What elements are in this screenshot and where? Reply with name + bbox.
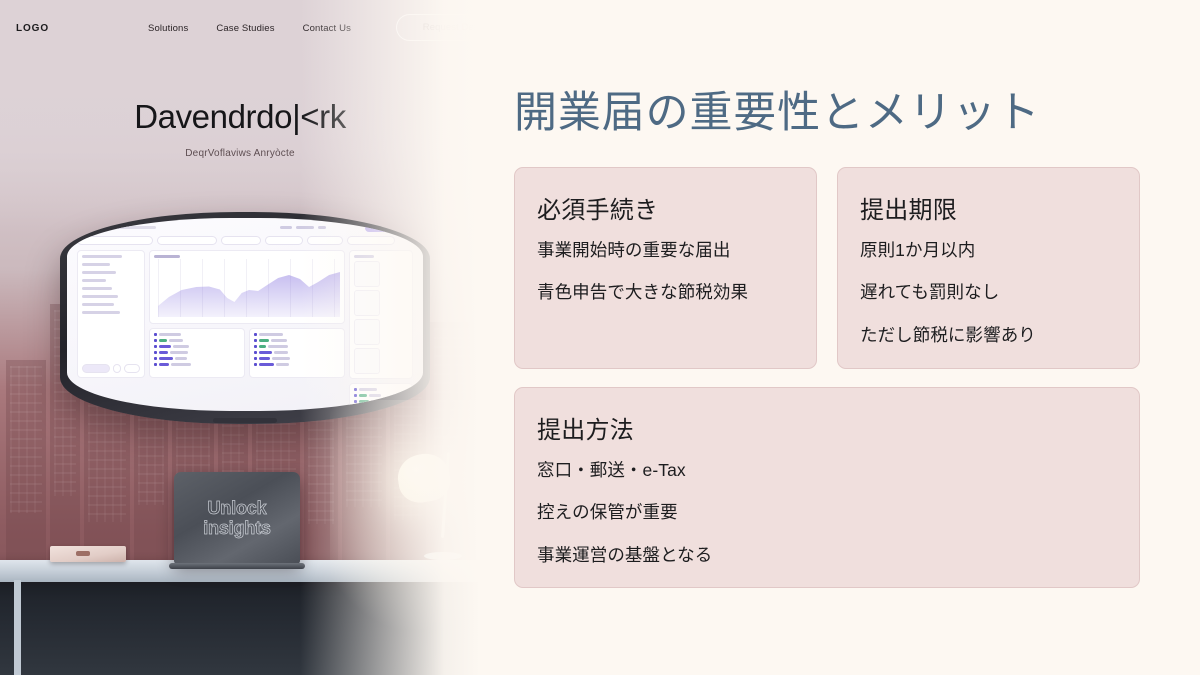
hero-visual-panel: LOGO Solutions Case Studies Contact Us R… (0, 0, 480, 675)
nav-link-solutions[interactable]: Solutions (148, 23, 188, 34)
table-middle (249, 328, 345, 378)
dashboard-cta-button (365, 224, 413, 232)
card-heading: 提出方法 (537, 410, 1117, 445)
curved-monitor (60, 212, 430, 424)
lamp-base (424, 552, 462, 560)
dashboard-filter-chips (73, 233, 417, 248)
monitor-screen (67, 218, 423, 411)
card-heading: 提出期限 (860, 190, 1117, 225)
card-item: 事業運営の基盤となる (537, 544, 1117, 568)
card-row-bottom: 提出方法 窓口・郵送・e-Tax 控えの保管が重要 事業運営の基盤となる (514, 387, 1140, 589)
page-title: 開業届の重要性とメリット (514, 88, 1140, 139)
laptop-lid-text: Unlock insights (174, 472, 300, 564)
desk-leg (14, 580, 21, 675)
dashboard-right-column (349, 250, 413, 378)
card-item: 遅れても罰則なし (860, 281, 1117, 305)
navbar: LOGO Solutions Case Studies Contact Us R… (0, 0, 480, 56)
laptop-base (169, 563, 305, 569)
card-item: 原則1か月以内 (860, 239, 1117, 263)
dashboard-logo-icon (77, 224, 84, 231)
desk-shadow-area (0, 580, 480, 675)
info-card-submission-deadline: 提出期限 原則1か月以内 遅れても罰則なし ただし節税に影響あり (837, 167, 1140, 369)
content-panel: 開業届の重要性とメリット 必須手続き 事業開始時の重要な届出 青色申告で大きな節… (480, 0, 1200, 675)
nav-link-contact-us[interactable]: Contact Us (303, 23, 351, 34)
card-item: 青色申告で大きな節税効果 (537, 281, 794, 305)
card-row-top: 必須手続き 事業開始時の重要な届出 青色申告で大きな節税効果 提出期限 原則1か… (514, 167, 1140, 369)
dashboard-center-column (149, 250, 345, 378)
dashboard-mockup (67, 218, 423, 411)
monitor-stand (213, 418, 277, 423)
laptop: Unlock insights (174, 472, 300, 564)
nav-link-case-studies[interactable]: Case Studies (216, 23, 274, 34)
dashboard-body (73, 248, 417, 380)
card-item: 事業開始時の重要な届出 (537, 239, 794, 263)
logo[interactable]: LOGO (16, 23, 49, 34)
info-card-required-procedures: 必須手続き 事業開始時の重要な届出 青色申告で大きな節税効果 (514, 167, 817, 369)
table-left (149, 328, 245, 378)
card-item: ただし節税に影響あり (860, 324, 1117, 348)
info-card-submission-method: 提出方法 窓口・郵送・e-Tax 控えの保管が重要 事業運営の基盤となる (514, 387, 1140, 589)
nav-links: Solutions Case Studies Contact Us (148, 23, 351, 34)
card-item: 窓口・郵送・e-Tax (537, 459, 1117, 483)
request-demo-button[interactable]: Request Demo (396, 14, 480, 41)
laptop-text-line1: Unlock (208, 499, 267, 517)
dashboard-topbar (73, 222, 417, 233)
hero-title: Davendrdo|<rk (0, 98, 480, 136)
slide-root: LOGO Solutions Case Studies Contact Us R… (0, 0, 1200, 675)
metric-cards-panel (349, 250, 413, 379)
desk-lamp (392, 448, 464, 566)
hero-subtitle: DeqrVoflaviws Anryòcte (0, 148, 480, 159)
card-item: 控えの保管が重要 (537, 501, 1117, 525)
laptop-text-line2: insights (203, 519, 271, 537)
book-marker (76, 551, 90, 556)
dashboard-sidebar (77, 250, 145, 378)
card-heading: 必須手続き (537, 190, 794, 225)
hero-block: Davendrdo|<rk DeqrVoflaviws Anryòcte (0, 98, 480, 159)
table-right (349, 383, 413, 411)
desk-book (50, 546, 126, 562)
dashboard-area-chart (149, 250, 345, 324)
dashboard-tables (149, 328, 345, 378)
